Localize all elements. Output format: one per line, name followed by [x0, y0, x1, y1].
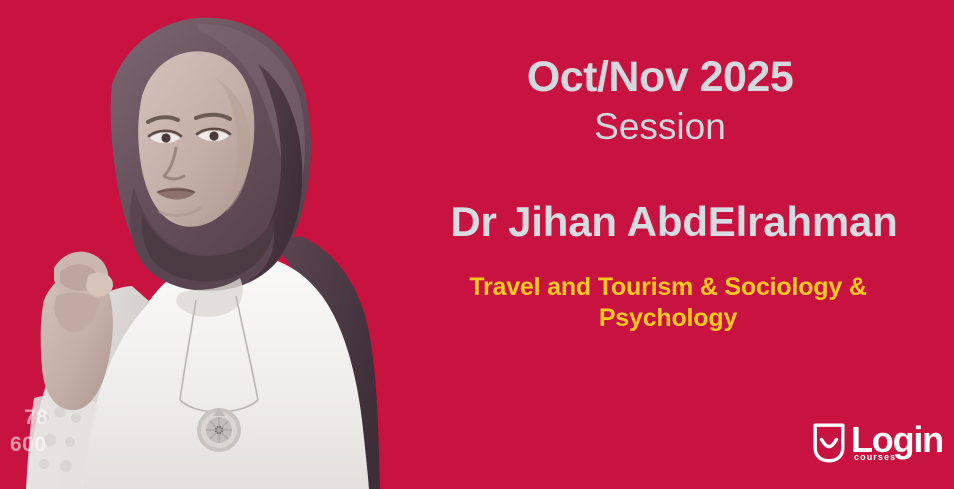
lecturer-portrait — [0, 0, 430, 489]
shield-chevron-icon — [812, 422, 846, 464]
lecturer-subjects-block: Travel and Tourism & Sociology & Psychol… — [410, 272, 926, 334]
promo-poster: 78 600 Oct/Nov 2025 Session Dr Jihan Abd… — [0, 0, 954, 489]
lecturer-subjects: Travel and Tourism & Sociology & Psychol… — [410, 272, 926, 334]
logo-tagline: courses — [854, 452, 896, 462]
logo-wordmark: Login courses — [851, 421, 943, 467]
lecturer-name-block: Dr Jihan AbdElrahman — [400, 196, 948, 248]
login-courses-logo[interactable]: Login courses — [812, 421, 940, 471]
session-month-label: Oct/Nov 2025 — [400, 52, 920, 102]
poster-text-column: Oct/Nov 2025 Session Dr Jihan AbdElrahma… — [400, 0, 954, 489]
session-heading: Oct/Nov 2025 Session — [400, 52, 920, 150]
session-word-label: Session — [400, 104, 920, 150]
lecturer-name: Dr Jihan AbdElrahman — [400, 196, 948, 248]
portrait-illustration — [0, 0, 430, 489]
